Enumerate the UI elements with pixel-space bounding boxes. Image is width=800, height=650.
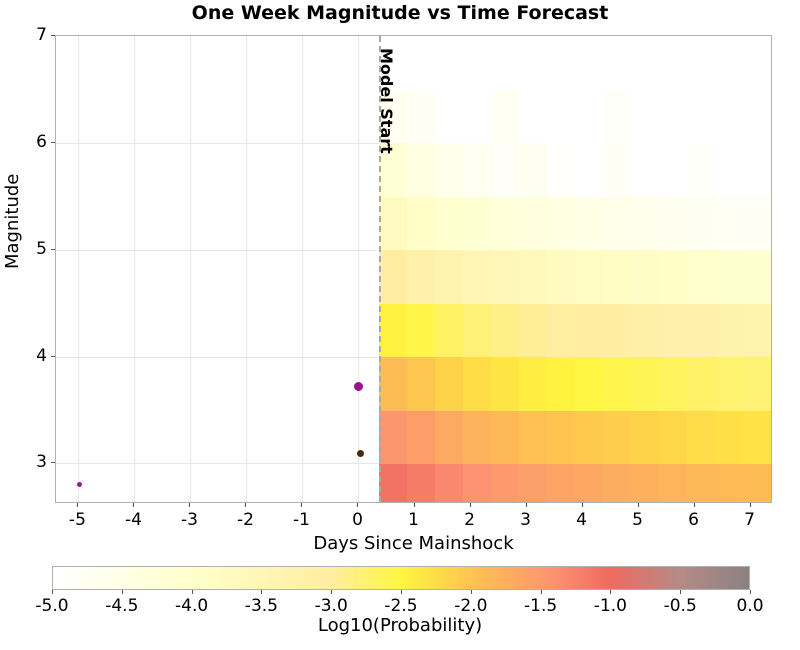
heatmap-cell: [715, 36, 744, 90]
heatmap-cell: [407, 89, 436, 143]
heatmap-cell: [519, 463, 548, 503]
x-tickmark: [470, 503, 471, 507]
heatmap-cell: [407, 196, 436, 250]
heatmap-cell: [491, 36, 520, 90]
heatmap-cell: [463, 410, 492, 464]
heatmap-cell: [547, 463, 576, 503]
x-tickmark: [750, 503, 751, 507]
heatmap-cell: [435, 250, 464, 304]
heatmap-cell: [435, 303, 464, 357]
heatmap-cell: [491, 250, 520, 304]
heatmap-cell: [603, 250, 632, 304]
y-tickmark: [51, 142, 55, 143]
heatmap-cell: [463, 250, 492, 304]
heatmap-cell: [743, 250, 772, 304]
heatmap-cell: [715, 196, 744, 250]
colorbar-tickmark: [680, 590, 681, 594]
heatmap-cell: [547, 357, 576, 411]
heatmap-cell: [631, 143, 660, 197]
gridline-vertical: [190, 36, 191, 502]
heatmap-cell: [379, 303, 408, 357]
heatmap-cell: [603, 357, 632, 411]
heatmap-cell: [435, 410, 464, 464]
heatmap-cell: [659, 250, 688, 304]
heatmap-cell: [715, 250, 744, 304]
colorbar-title: Log10(Probability): [0, 615, 800, 636]
y-tickmark: [51, 462, 55, 463]
x-tick-label: -5: [69, 510, 86, 530]
heatmap-cell: [379, 410, 408, 464]
heatmap-cell: [659, 89, 688, 143]
heatmap-cell: [547, 303, 576, 357]
x-tick-label: 2: [464, 510, 475, 530]
x-tick-label: 4: [576, 510, 587, 530]
heatmap-cell: [631, 36, 660, 90]
heatmap-cell: [519, 303, 548, 357]
heatmap-cell: [687, 89, 716, 143]
heatmap-cell: [547, 196, 576, 250]
colorbar-tick-label: 0.0: [736, 596, 763, 616]
heatmap-cell: [659, 36, 688, 90]
heatmap-cell: [491, 196, 520, 250]
colorbar-tickmark: [750, 590, 751, 594]
heatmap-cell: [715, 410, 744, 464]
heatmap-cell: [659, 357, 688, 411]
model-start-label: Model Start: [377, 48, 396, 154]
colorbar-tickmark: [610, 590, 611, 594]
x-tickmark: [301, 503, 302, 507]
heatmap-cell: [491, 463, 520, 503]
heatmap-cell: [603, 463, 632, 503]
heatmap-cell: [743, 303, 772, 357]
colorbar-tick-label: -0.5: [664, 596, 697, 616]
colorbar-tickmark: [261, 590, 262, 594]
heatmap-cell: [743, 357, 772, 411]
heatmap-cell: [743, 36, 772, 90]
heatmap-cell: [519, 143, 548, 197]
y-tickmark: [51, 35, 55, 36]
heatmap-cell: [463, 143, 492, 197]
heatmap-cell: [659, 410, 688, 464]
x-tick-label: -4: [125, 510, 142, 530]
heatmap-cell: [687, 303, 716, 357]
x-tickmark: [189, 503, 190, 507]
heatmap-cell: [547, 143, 576, 197]
heatmap-cell: [715, 463, 744, 503]
gridline-vertical: [78, 36, 79, 502]
heatmap-cell: [631, 196, 660, 250]
heatmap-cell: [575, 303, 604, 357]
heatmap-cell: [687, 357, 716, 411]
x-tickmark: [414, 503, 415, 507]
x-tick-label: 7: [744, 510, 755, 530]
x-tick-label: -2: [237, 510, 254, 530]
x-tickmark: [638, 503, 639, 507]
heatmap-cell: [575, 143, 604, 197]
y-tick-label: 7: [19, 25, 47, 45]
y-tick-label: 5: [19, 239, 47, 259]
heatmap-cell: [715, 89, 744, 143]
heatmap-cell: [379, 196, 408, 250]
heatmap-cell: [659, 463, 688, 503]
heatmap-cell: [743, 143, 772, 197]
heatmap-cell: [407, 410, 436, 464]
heatmap-cell: [435, 196, 464, 250]
x-tickmark: [526, 503, 527, 507]
colorbar-gradient: [52, 566, 750, 590]
x-tickmark: [245, 503, 246, 507]
heatmap-cell: [687, 463, 716, 503]
colorbar-tickmark: [471, 590, 472, 594]
heatmap-cell: [603, 89, 632, 143]
heatmap-cell: [491, 357, 520, 411]
x-tickmark: [133, 503, 134, 507]
heatmap-cell: [631, 250, 660, 304]
x-tickmark: [77, 503, 78, 507]
heatmap-cell: [407, 36, 436, 90]
heatmap-cell: [547, 410, 576, 464]
heatmap-cell: [519, 250, 548, 304]
heatmap-cell: [659, 303, 688, 357]
colorbar-tickmark: [52, 590, 53, 594]
x-tick-label: 1: [408, 510, 419, 530]
x-tick-label: -3: [181, 510, 198, 530]
x-tick-label: 3: [520, 510, 531, 530]
colorbar-tick-label: -5.0: [35, 596, 68, 616]
heatmap-cell: [575, 36, 604, 90]
heatmap-cell: [547, 89, 576, 143]
heatmap-cell: [575, 357, 604, 411]
plot-area: Model Start: [55, 35, 772, 503]
heatmap-cell: [407, 463, 436, 503]
heatmap-cell: [435, 357, 464, 411]
heatmap-cell: [463, 89, 492, 143]
gridline-vertical: [134, 36, 135, 502]
heatmap-cell: [463, 196, 492, 250]
heatmap-cell: [491, 303, 520, 357]
heatmap-cell: [463, 357, 492, 411]
heatmap-cell: [715, 357, 744, 411]
colorbar-tick-label: -2.0: [454, 596, 487, 616]
colorbar-tick-label: -4.5: [105, 596, 138, 616]
heatmap-cell: [687, 143, 716, 197]
heatmap-cell: [743, 410, 772, 464]
heatmap-cell: [379, 357, 408, 411]
y-tickmark: [51, 356, 55, 357]
heatmap-cell: [407, 303, 436, 357]
heatmap-cell: [407, 250, 436, 304]
heatmap-cell: [463, 303, 492, 357]
heatmap-cell: [491, 143, 520, 197]
heatmap-cell: [743, 196, 772, 250]
heatmap-cell: [379, 250, 408, 304]
colorbar-tickmark: [401, 590, 402, 594]
heatmap-cell: [715, 143, 744, 197]
colorbar-tick-label: -3.0: [315, 596, 348, 616]
heatmap-cell: [631, 357, 660, 411]
x-tick-label: 5: [632, 510, 643, 530]
event-marker: [357, 450, 364, 457]
heatmap-cell: [715, 303, 744, 357]
event-marker: [354, 382, 363, 391]
heatmap-cell: [631, 303, 660, 357]
y-tick-label: 6: [19, 132, 47, 152]
heatmap-cell: [603, 196, 632, 250]
x-axis-title: Days Since Mainshock: [55, 533, 772, 554]
heatmap-cell: [463, 463, 492, 503]
y-axis-title: Magnitude: [2, 174, 23, 269]
x-tickmark: [582, 503, 583, 507]
gridline-vertical: [246, 36, 247, 502]
heatmap-cell: [519, 357, 548, 411]
heatmap-cell: [575, 250, 604, 304]
heatmap-cell: [547, 250, 576, 304]
heatmap-cell: [407, 357, 436, 411]
heatmap-cell: [659, 196, 688, 250]
gridline-vertical: [302, 36, 303, 502]
x-tick-label: 6: [688, 510, 699, 530]
heatmap-cell: [575, 196, 604, 250]
heatmap-cell: [603, 410, 632, 464]
heatmap-cell: [519, 196, 548, 250]
y-tick-label: 4: [19, 346, 47, 366]
event-marker: [77, 482, 82, 487]
heatmap-cell: [687, 36, 716, 90]
heatmap-cell: [519, 410, 548, 464]
x-tickmark: [694, 503, 695, 507]
heatmap-cell: [687, 410, 716, 464]
heatmap-cell: [575, 410, 604, 464]
heatmap-cell: [435, 143, 464, 197]
colorbar-tick-label: -3.5: [245, 596, 278, 616]
heatmap-cell: [603, 303, 632, 357]
heatmap-cell: [743, 89, 772, 143]
heatmap-cell: [631, 463, 660, 503]
x-tickmark: [357, 503, 358, 507]
heatmap-cell: [463, 36, 492, 90]
heatmap-cell: [659, 143, 688, 197]
heatmap-cell: [379, 463, 408, 503]
heatmap-cell: [435, 36, 464, 90]
heatmap-cell: [687, 196, 716, 250]
heatmap-cell: [491, 89, 520, 143]
heatmap-cell: [743, 463, 772, 503]
forecast-chart-figure: One Week Magnitude vs Time Forecast Mode…: [0, 0, 800, 650]
colorbar-tickmark: [541, 590, 542, 594]
colorbar-tickmark: [122, 590, 123, 594]
colorbar-tick-label: -4.0: [175, 596, 208, 616]
heatmap-cell: [687, 250, 716, 304]
heatmap-cell: [519, 89, 548, 143]
colorbar: [52, 566, 750, 590]
heatmap-cell: [435, 463, 464, 503]
y-tick-label: 3: [19, 452, 47, 472]
heatmap-cell: [631, 89, 660, 143]
colorbar-tickmark: [331, 590, 332, 594]
heatmap-cell: [491, 410, 520, 464]
heatmap-cell: [575, 89, 604, 143]
heatmap-cell: [435, 89, 464, 143]
page-title: One Week Magnitude vs Time Forecast: [0, 2, 800, 24]
heatmap-cell: [519, 36, 548, 90]
heatmap-cell: [631, 410, 660, 464]
y-tickmark: [51, 249, 55, 250]
colorbar-tickmark: [192, 590, 193, 594]
gridline-vertical: [358, 36, 359, 502]
x-tick-label: -1: [293, 510, 310, 530]
heatmap-cell: [603, 36, 632, 90]
heatmap-cell: [407, 143, 436, 197]
heatmap-cell: [547, 36, 576, 90]
heatmap-cell: [603, 143, 632, 197]
colorbar-tick-label: -1.0: [594, 596, 627, 616]
x-tick-label: 0: [352, 510, 363, 530]
colorbar-tick-label: -1.5: [524, 596, 557, 616]
colorbar-tick-label: -2.5: [384, 596, 417, 616]
heatmap-cell: [575, 463, 604, 503]
